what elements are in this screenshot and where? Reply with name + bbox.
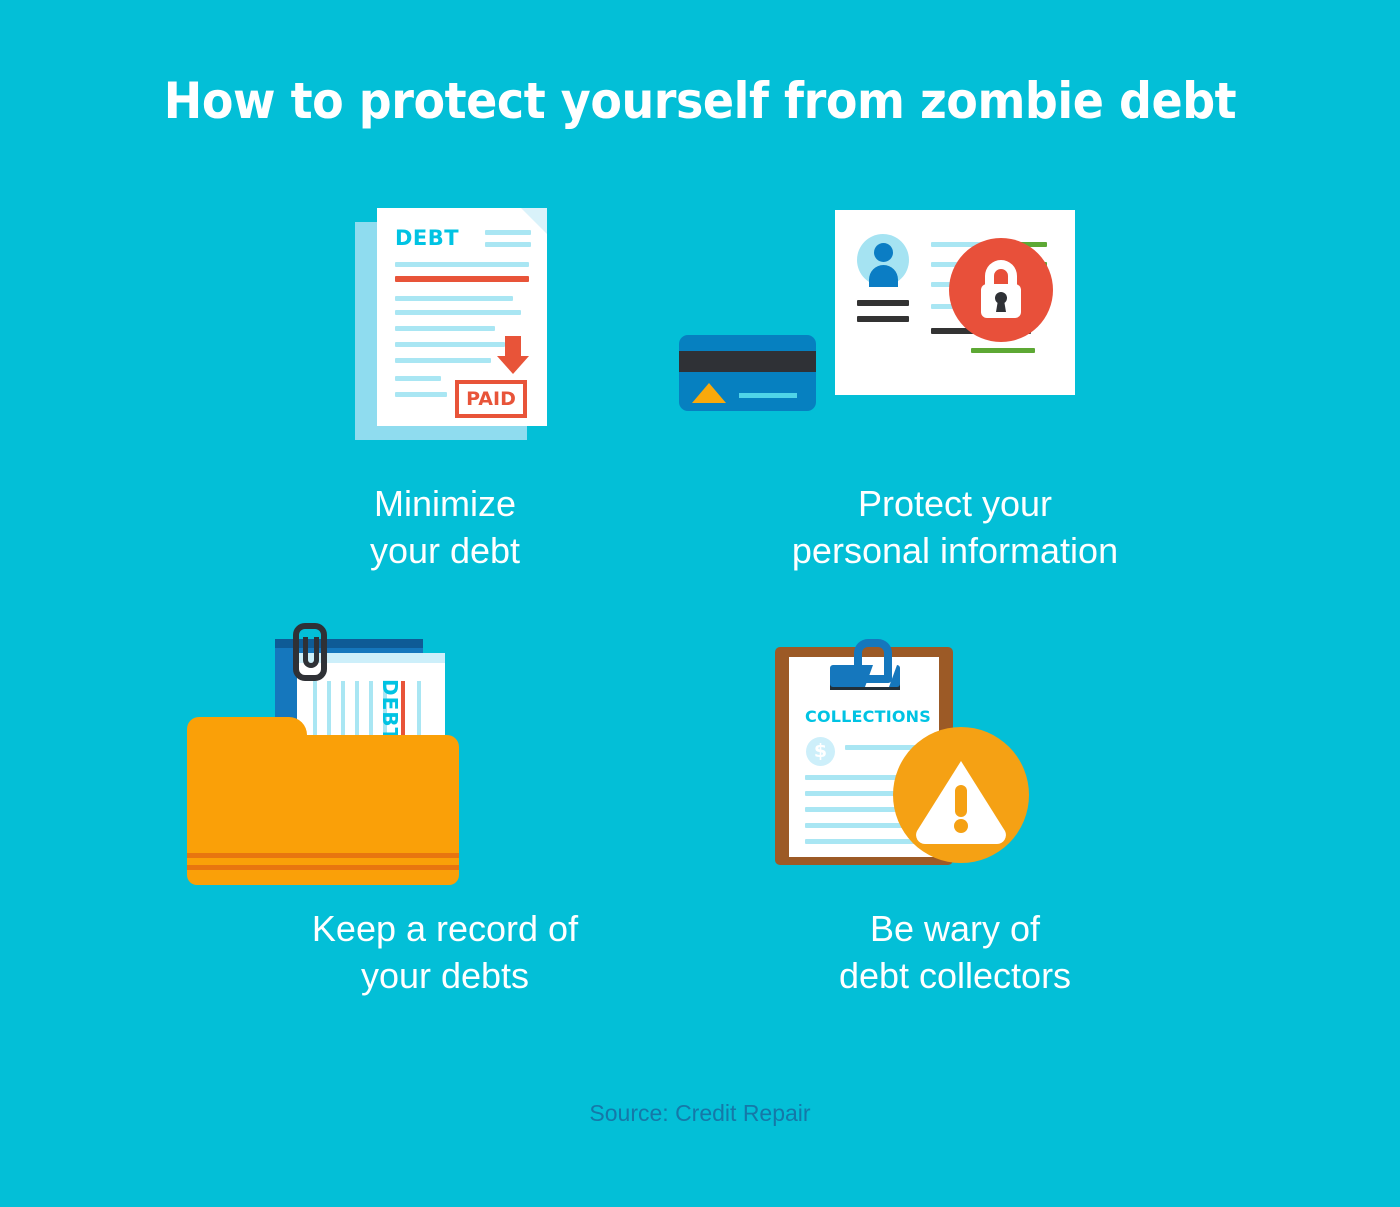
- source-attribution: Source: Credit Repair: [0, 1100, 1400, 1127]
- paper-heading: DEBT: [378, 679, 402, 742]
- avatar-head: [874, 243, 893, 262]
- page-title: How to protect yourself from zombie debt: [56, 72, 1344, 130]
- tip-caption: Minimize your debt: [165, 480, 725, 574]
- body-line: [395, 262, 529, 267]
- tip-card-protect-information: Protect your personal information: [675, 190, 1235, 574]
- avatar-icon: [857, 234, 909, 286]
- debt-document: DEBT PAID: [377, 208, 547, 426]
- tip-card-debt-collectors: COLLECTIONS $: [675, 615, 1235, 999]
- tip-caption: Protect your personal information: [675, 480, 1235, 574]
- body-line: [805, 823, 905, 828]
- credit-card-icon: [679, 335, 816, 411]
- down-arrow-icon: [505, 336, 521, 356]
- infographic-canvas: How to protect yourself from zombie debt…: [0, 0, 1400, 1207]
- name-line: [857, 316, 909, 322]
- warning-triangle-icon: [893, 727, 1029, 863]
- tip-card-minimize-debt: DEBT PAID Minimize your debt: [165, 190, 725, 574]
- paid-debt-document-icon: DEBT PAID: [165, 190, 725, 460]
- magnetic-stripe: [679, 351, 816, 372]
- tip-card-keep-record: DEBT Keep a record of your debts: [165, 615, 725, 999]
- paperclip-icon: [293, 623, 327, 681]
- body-line: [395, 358, 491, 363]
- avatar-body: [869, 265, 898, 287]
- card-logo-triangle: [692, 383, 726, 403]
- name-line: [857, 300, 909, 306]
- orange-folder: [187, 735, 459, 885]
- body-line: [395, 326, 495, 331]
- folder-stripe: [187, 853, 459, 858]
- padlock-icon: [949, 238, 1053, 342]
- body-line: [395, 376, 441, 381]
- clip-ring: [854, 639, 892, 683]
- tip-caption: Be wary of debt collectors: [675, 905, 1235, 999]
- folder-tab: [187, 717, 307, 747]
- header-line: [485, 242, 531, 247]
- paperclip-inner: [303, 637, 319, 668]
- header-line: [485, 230, 531, 235]
- padlock-glyph: [949, 238, 1053, 342]
- dollar-icon: $: [806, 737, 835, 766]
- body-line: [395, 310, 521, 315]
- body-line: [395, 392, 447, 397]
- card-number-line: [739, 393, 797, 398]
- tip-caption: Keep a record of your debts: [165, 905, 725, 999]
- document-heading: DEBT: [395, 226, 459, 250]
- paper-heading: COLLECTIONS: [805, 707, 931, 726]
- folder-with-documents-icon: DEBT: [165, 615, 725, 885]
- warning-glyph: [893, 727, 1029, 863]
- body-line: [395, 342, 505, 347]
- folder-stripe: [187, 865, 459, 870]
- id-card-credit-card-lock-icon: [675, 190, 1235, 460]
- collections-clipboard-warning-icon: COLLECTIONS $: [675, 615, 1235, 885]
- red-underline: [395, 276, 529, 282]
- body-line: [395, 296, 513, 301]
- status-line-green: [971, 348, 1035, 353]
- paid-stamp: PAID: [455, 380, 527, 418]
